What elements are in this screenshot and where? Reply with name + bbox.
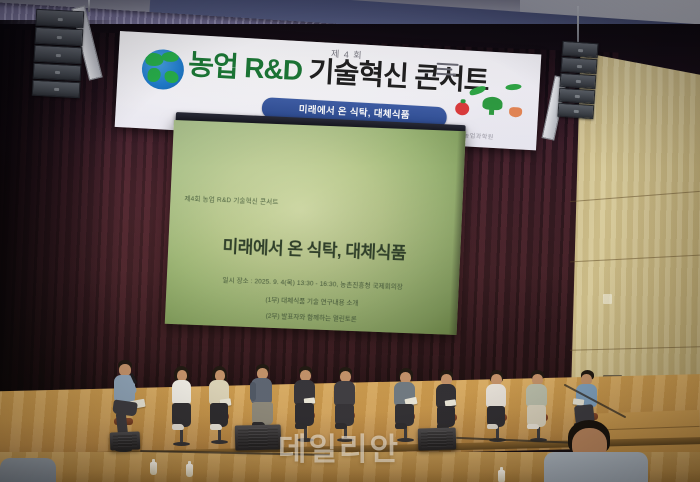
- torso: [172, 380, 191, 405]
- speaker-rigging-wire: [88, 0, 90, 12]
- conference-photo: 제 4 회 농업 R&D 기술혁신 콘서트 미래에서 온 식탁, 대체식품 농촌…: [0, 0, 700, 482]
- speaker-rigging-wire: [577, 6, 579, 46]
- panelist-4: [290, 366, 324, 442]
- water-bottle: [150, 462, 157, 475]
- carrot-icon: [509, 107, 523, 118]
- audience-side-viewer: [0, 452, 60, 482]
- panelist-1: [166, 366, 200, 446]
- panelist-8: [482, 370, 514, 442]
- line-array-speaker-right: [557, 41, 598, 119]
- shoe: [527, 424, 539, 429]
- shoe: [395, 423, 407, 429]
- broccoli-icon: [482, 96, 503, 110]
- torso: [486, 384, 506, 408]
- shoe: [210, 424, 222, 430]
- earth-globe-icon: [141, 48, 185, 90]
- shoe: [487, 424, 498, 429]
- panelist-5: [330, 367, 364, 442]
- tomato-icon: [455, 102, 470, 116]
- floor-monitor-speaker: [235, 424, 282, 450]
- floor-monitor-speaker: [110, 431, 141, 450]
- torso: [544, 452, 648, 482]
- floor-monitor-speaker: [418, 428, 457, 451]
- organization-mark-icon: [435, 63, 462, 86]
- water-bottle: [498, 470, 505, 482]
- torso: [0, 458, 56, 482]
- shoe: [335, 423, 347, 429]
- line-array-speaker-left: [32, 9, 84, 98]
- banner-title-green: 농업 R&D: [187, 49, 303, 86]
- arm: [250, 382, 256, 401]
- audience-front-viewer: [540, 420, 650, 482]
- banner-title-black: 기술혁신 콘서트: [308, 56, 490, 97]
- projection-screen: 제4회 농업 R&D 기술혁신 콘서트 미래에서 온 식탁, 대체식품 일시 장…: [165, 120, 466, 335]
- wall-marker: [603, 294, 612, 304]
- panelist-2: [204, 366, 238, 444]
- shoe: [295, 423, 307, 429]
- torso: [526, 384, 547, 407]
- water-bottle: [186, 464, 193, 477]
- torso: [334, 381, 355, 406]
- shoe: [172, 424, 184, 430]
- leaf-icon: [505, 83, 521, 90]
